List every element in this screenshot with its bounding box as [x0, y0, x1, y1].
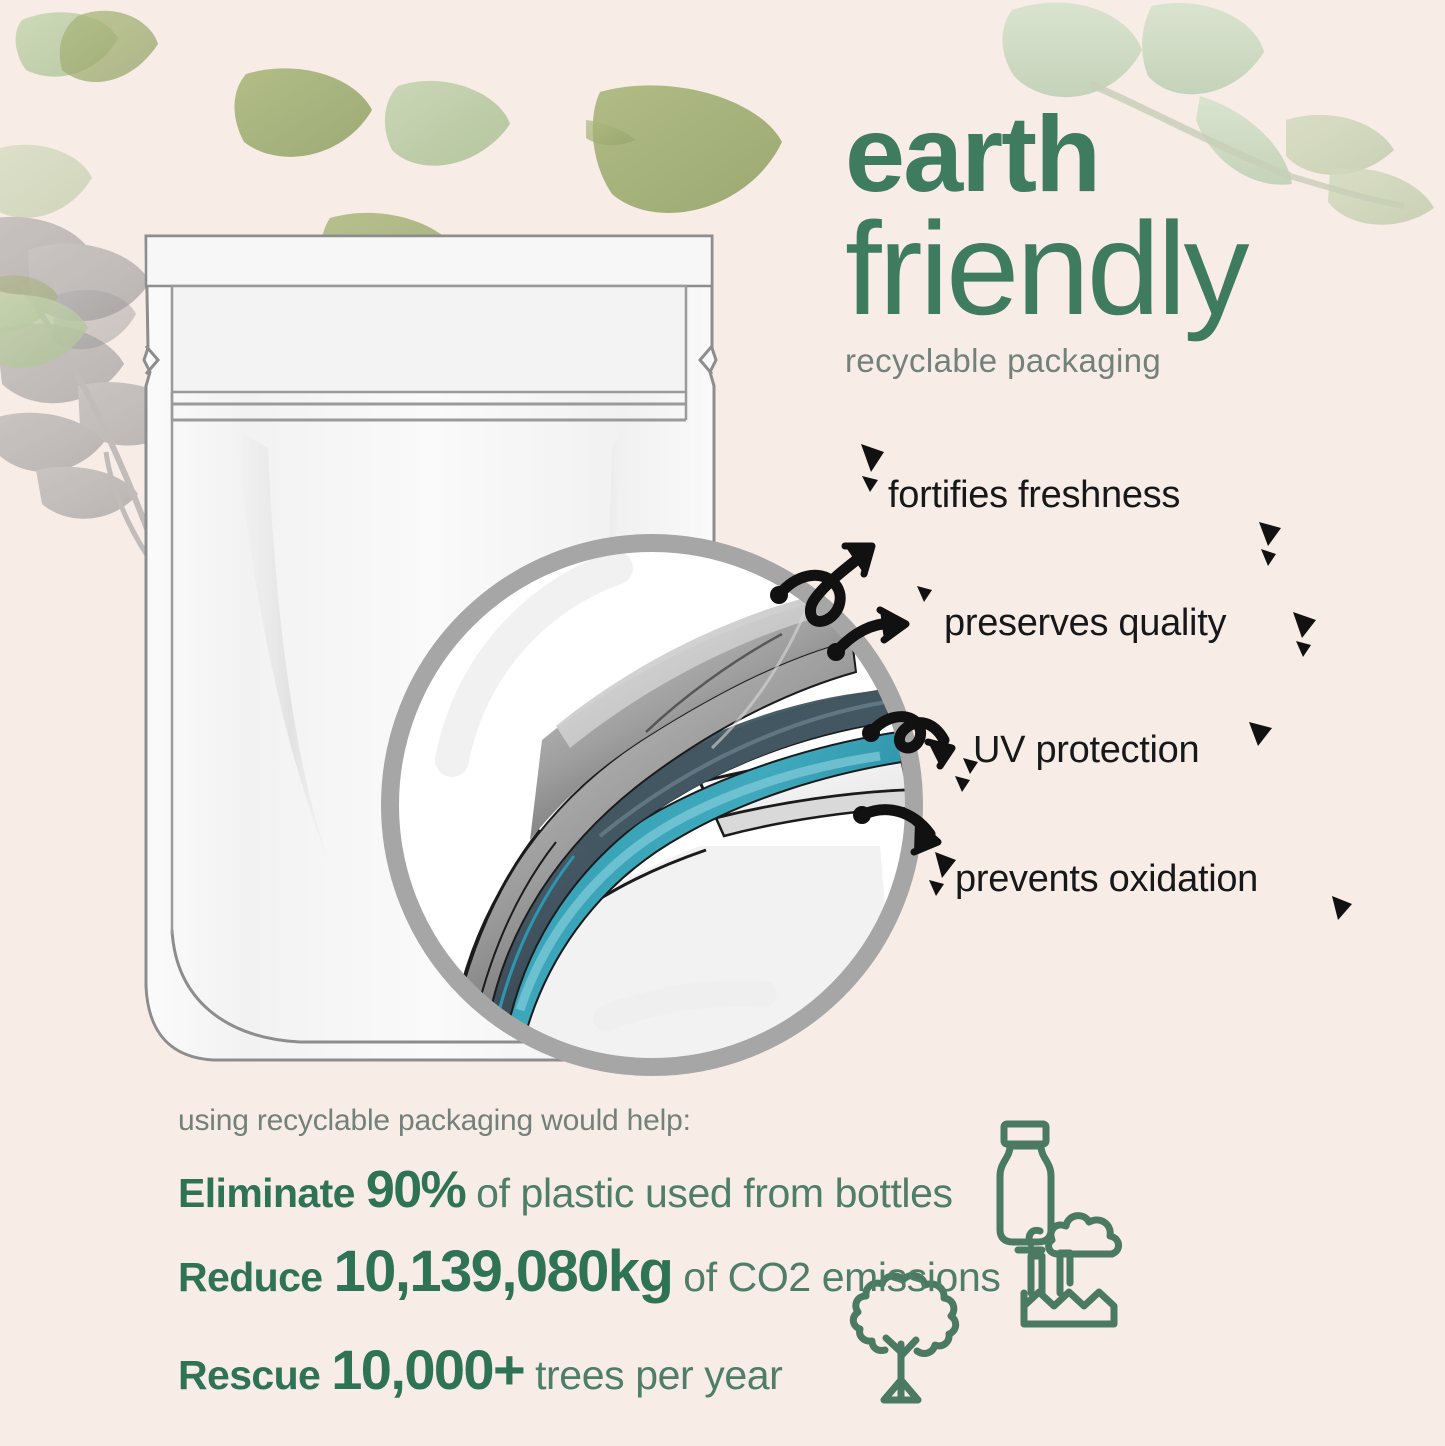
stat-row: Rescue10,000+trees per year [178, 1342, 782, 1398]
stat-row: Eliminate90%of plastic used from bottles [178, 1164, 953, 1216]
feature-label-uv-protection: UV protection [973, 729, 1199, 772]
page-title-line2: friendly [845, 208, 1425, 329]
stat-verb: Eliminate [178, 1170, 355, 1216]
stat-value: 10,000+ [331, 1338, 524, 1401]
feature-label-fortifies-freshness: fortifies freshness [888, 474, 1180, 517]
factory-emissions-icon [1018, 1216, 1119, 1324]
stat-verb: Reduce [178, 1254, 323, 1300]
page-subtitle: recyclable packaging [845, 342, 1425, 380]
feature-label-preserves-quality: preserves quality [944, 602, 1226, 645]
infographic-canvas: earth friendly recyclable packaging fort… [0, 0, 1445, 1446]
stat-tail: of CO2 emissions [683, 1254, 1000, 1300]
stat-value: 90% [366, 1161, 465, 1219]
bottle-icon [1000, 1124, 1051, 1242]
headline-block: earth friendly recyclable packaging [845, 104, 1425, 380]
stats-intro-text: using recyclable packaging would help: [178, 1104, 691, 1138]
stat-row: Reduce10,139,080kgof CO2 emissions [178, 1243, 1000, 1301]
page-title-line1: earth [845, 104, 1425, 204]
stat-tail: trees per year [535, 1352, 782, 1398]
feature-label-prevents-oxidation: prevents oxidation [955, 858, 1258, 901]
stat-tail: of plastic used from bottles [476, 1170, 952, 1216]
stat-value: 10,139,080kg [334, 1239, 673, 1304]
stat-verb: Rescue [178, 1352, 320, 1398]
